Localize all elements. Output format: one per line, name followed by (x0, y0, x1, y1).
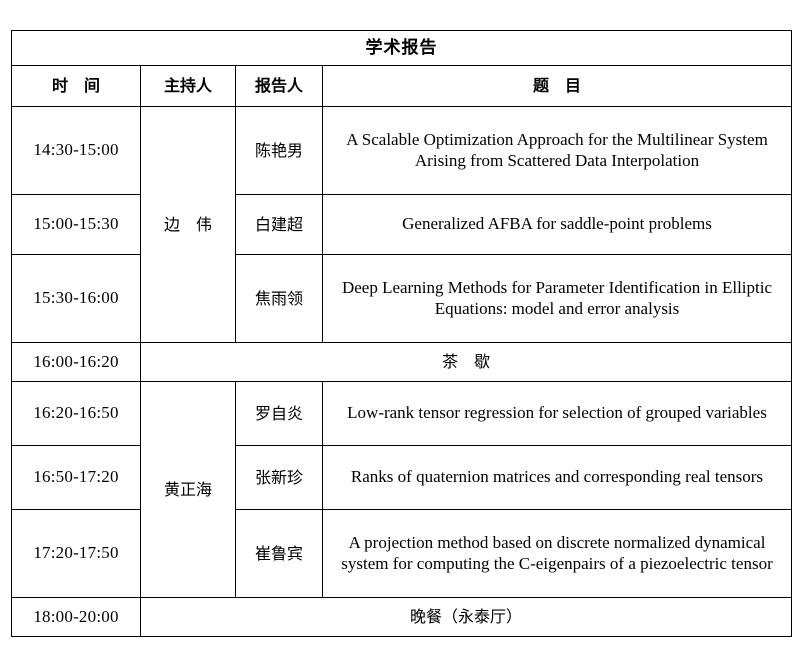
session-time: 14:30-15:00 (12, 107, 141, 195)
dinner-time: 18:00-20:00 (12, 598, 141, 637)
session-chair: 边 伟 (141, 107, 236, 343)
session-time: 16:20-16:50 (12, 382, 141, 446)
tea-break-time: 16:00-16:20 (12, 343, 141, 382)
dinner-row: 18:00-20:00 晚餐（永泰厅） (12, 598, 792, 637)
session-topic: Generalized AFBA for saddle-point proble… (323, 195, 792, 255)
session-speaker: 罗自炎 (236, 382, 323, 446)
session-topic: Deep Learning Methods for Parameter Iden… (323, 255, 792, 343)
dinner-label: 晚餐（永泰厅） (141, 598, 792, 637)
session-chair: 黄正海 (141, 382, 236, 598)
session-speaker: 张新珍 (236, 446, 323, 510)
academic-report-schedule-table: 学术报告 时 间 主持人 报告人 题 目 14:30-15:00 边 伟 陈艳男… (11, 30, 792, 637)
session-speaker: 陈艳男 (236, 107, 323, 195)
table-row: 16:50-17:20 张新珍 Ranks of quaternion matr… (12, 446, 792, 510)
session-topic: Ranks of quaternion matrices and corresp… (323, 446, 792, 510)
table-row: 15:00-15:30 白建超 Generalized AFBA for sad… (12, 195, 792, 255)
session-speaker: 崔鲁宾 (236, 510, 323, 598)
column-header-chair: 主持人 (141, 66, 236, 107)
column-header-speaker: 报告人 (236, 66, 323, 107)
session-speaker: 白建超 (236, 195, 323, 255)
table-title-row: 学术报告 (12, 31, 792, 66)
table-row: 15:30-16:00 焦雨领 Deep Learning Methods fo… (12, 255, 792, 343)
table-row: 16:20-16:50 黄正海 罗自炎 Low-rank tensor regr… (12, 382, 792, 446)
page-title: 学术报告 (12, 31, 792, 66)
schedule-page: 学术报告 时 间 主持人 报告人 题 目 14:30-15:00 边 伟 陈艳男… (0, 0, 806, 650)
session-time: 15:30-16:00 (12, 255, 141, 343)
table-row: 14:30-15:00 边 伟 陈艳男 A Scalable Optimizat… (12, 107, 792, 195)
session-speaker: 焦雨领 (236, 255, 323, 343)
session-time: 16:50-17:20 (12, 446, 141, 510)
session-topic: Low-rank tensor regression for selection… (323, 382, 792, 446)
column-header-time: 时 间 (12, 66, 141, 107)
session-topic: A Scalable Optimization Approach for the… (323, 107, 792, 195)
table-row: 17:20-17:50 崔鲁宾 A projection method base… (12, 510, 792, 598)
column-header-topic: 题 目 (323, 66, 792, 107)
session-time: 15:00-15:30 (12, 195, 141, 255)
tea-break-label: 茶 歇 (141, 343, 792, 382)
table-header-row: 时 间 主持人 报告人 题 目 (12, 66, 792, 107)
tea-break-row: 16:00-16:20 茶 歇 (12, 343, 792, 382)
session-time: 17:20-17:50 (12, 510, 141, 598)
session-topic: A projection method based on discrete no… (323, 510, 792, 598)
